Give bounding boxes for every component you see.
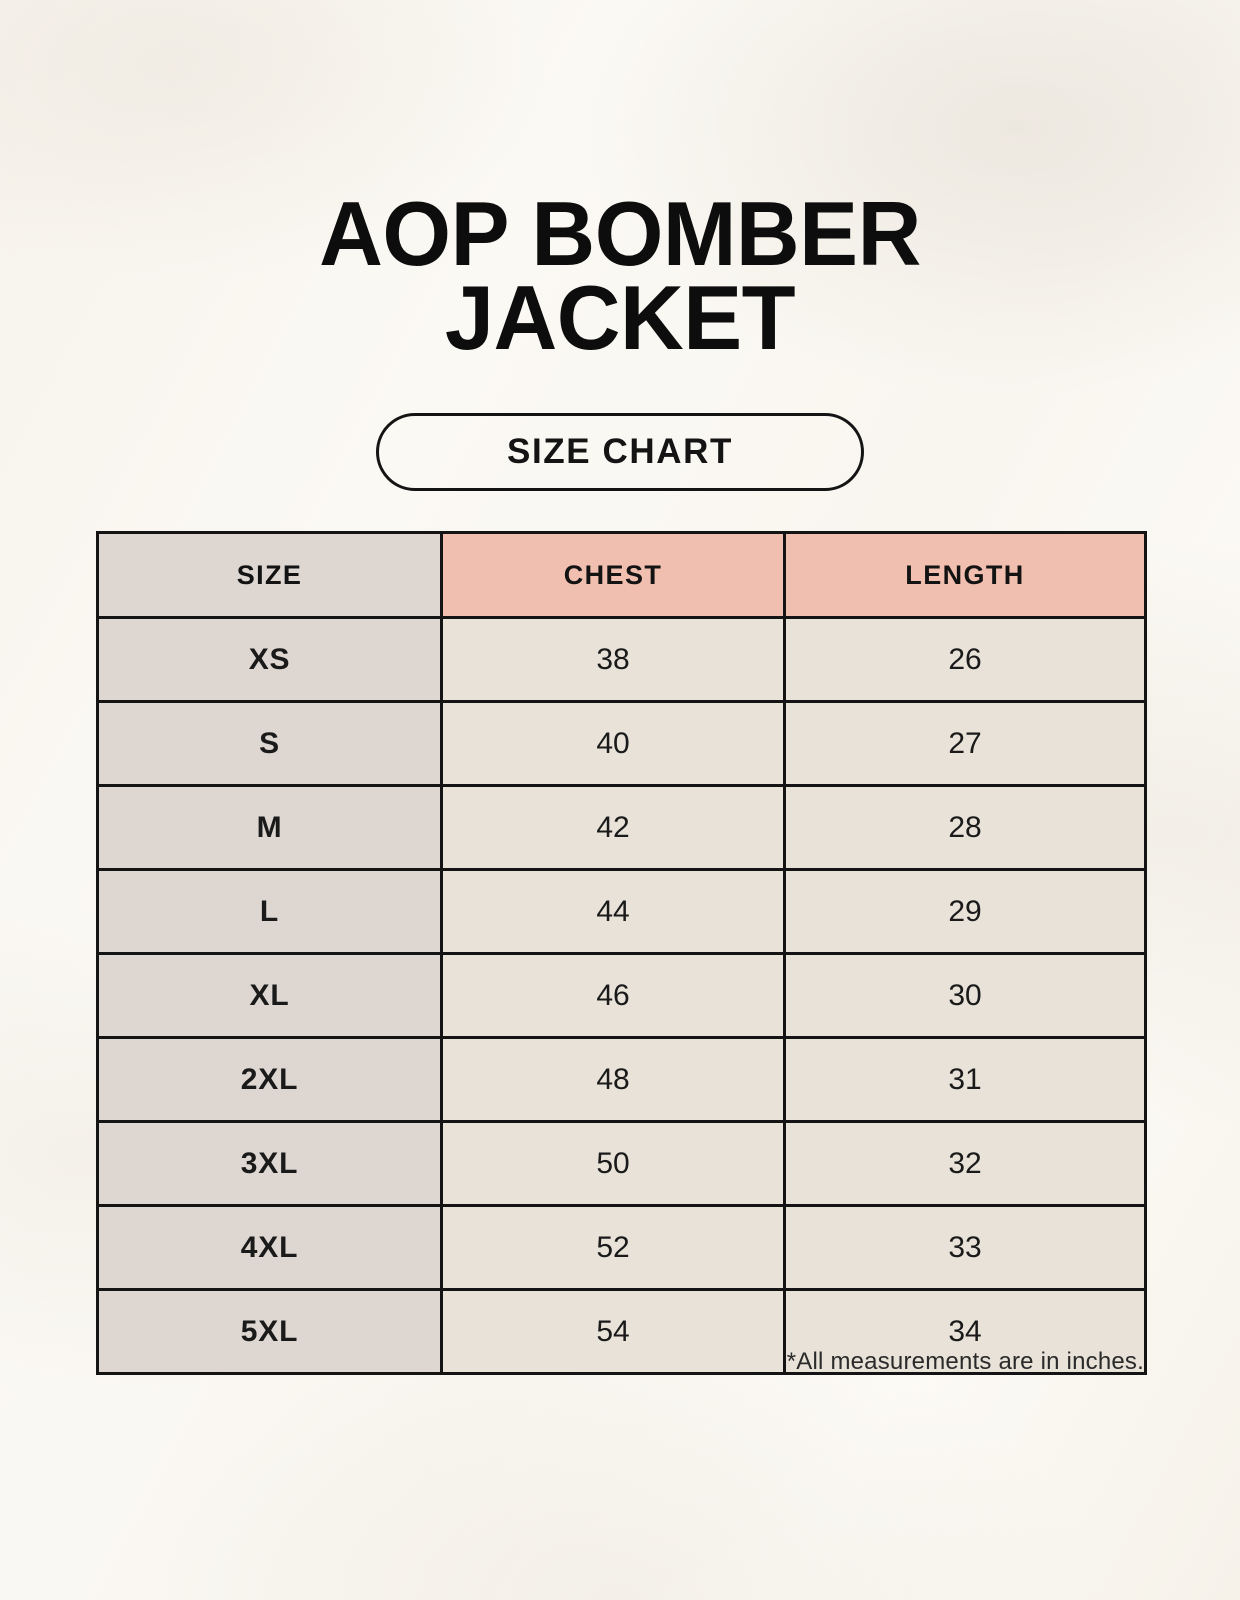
table-row: L 44 29 bbox=[98, 870, 1146, 954]
cell-length: 32 bbox=[785, 1122, 1146, 1206]
cell-size: S bbox=[98, 702, 442, 786]
cell-length: 33 bbox=[785, 1206, 1146, 1290]
column-header-chest: CHEST bbox=[442, 533, 785, 618]
cell-length: 29 bbox=[785, 870, 1146, 954]
table-row: S 40 27 bbox=[98, 702, 1146, 786]
cell-chest: 46 bbox=[442, 954, 785, 1038]
cell-length: 30 bbox=[785, 954, 1146, 1038]
size-table-body: XS 38 26 S 40 27 M 42 28 L 44 29 bbox=[98, 618, 1146, 1374]
cell-size: 3XL bbox=[98, 1122, 442, 1206]
page-title: AOP BOMBER JACKET bbox=[19, 193, 1222, 360]
cell-size: M bbox=[98, 786, 442, 870]
cell-size: XS bbox=[98, 618, 442, 702]
cell-size: L bbox=[98, 870, 442, 954]
page-title-block: AOP BOMBER JACKET bbox=[0, 193, 1240, 360]
table-row: 3XL 50 32 bbox=[98, 1122, 1146, 1206]
cell-length: 31 bbox=[785, 1038, 1146, 1122]
table-row: 4XL 52 33 bbox=[98, 1206, 1146, 1290]
cell-size: 2XL bbox=[98, 1038, 442, 1122]
cell-chest: 40 bbox=[442, 702, 785, 786]
table-row: XS 38 26 bbox=[98, 618, 1146, 702]
cell-size: 4XL bbox=[98, 1206, 442, 1290]
column-header-size: SIZE bbox=[98, 533, 442, 618]
table-row: M 42 28 bbox=[98, 786, 1146, 870]
cell-chest: 52 bbox=[442, 1206, 785, 1290]
size-table-wrap: SIZE CHEST LENGTH XS 38 26 S 40 27 M bbox=[96, 531, 1144, 1375]
size-chart-page: AOP BOMBER JACKET SIZE CHART SIZE CHEST … bbox=[0, 0, 1240, 1600]
page-title-line-2: JACKET bbox=[445, 268, 795, 369]
cell-chest: 44 bbox=[442, 870, 785, 954]
size-table-head: SIZE CHEST LENGTH bbox=[98, 533, 1146, 618]
table-row: 2XL 48 31 bbox=[98, 1038, 1146, 1122]
size-chart-badge-label: SIZE CHART bbox=[507, 432, 733, 472]
cell-chest: 48 bbox=[442, 1038, 785, 1122]
size-chart-badge-wrap: SIZE CHART bbox=[0, 413, 1240, 491]
measurements-footnote: *All measurements are in inches. bbox=[96, 1348, 1144, 1376]
cell-length: 27 bbox=[785, 702, 1146, 786]
cell-chest: 50 bbox=[442, 1122, 785, 1206]
size-chart-badge: SIZE CHART bbox=[376, 413, 864, 491]
cell-size: XL bbox=[98, 954, 442, 1038]
size-table: SIZE CHEST LENGTH XS 38 26 S 40 27 M bbox=[96, 531, 1147, 1375]
cell-chest: 42 bbox=[442, 786, 785, 870]
cell-length: 28 bbox=[785, 786, 1146, 870]
column-header-length: LENGTH bbox=[785, 533, 1146, 618]
table-header-row: SIZE CHEST LENGTH bbox=[98, 533, 1146, 618]
cell-chest: 38 bbox=[442, 618, 785, 702]
table-row: XL 46 30 bbox=[98, 954, 1146, 1038]
cell-length: 26 bbox=[785, 618, 1146, 702]
